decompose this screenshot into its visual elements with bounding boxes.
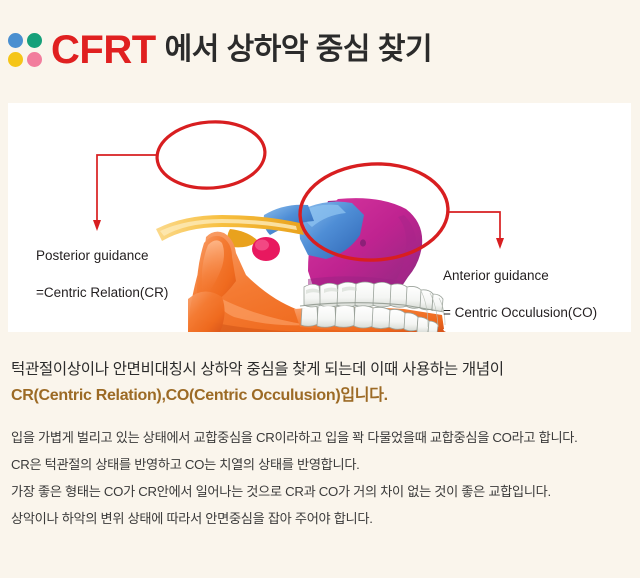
annotation-label-anterior-line2: = Centric Occulusion(CO) xyxy=(443,304,597,322)
paragraph-line-4: 상악이나 하악의 변위 상태에 따라서 안면중심을 잡아 주어야 합니다. xyxy=(11,506,631,533)
annotation-label-posterior: Posterior guidance =Centric Relation(CR) xyxy=(36,229,168,320)
leader-line-anterior xyxy=(448,212,500,239)
leader-line-posterior xyxy=(97,155,157,221)
mandible-front-fragment xyxy=(188,291,225,332)
brand-name: CFRT xyxy=(51,30,156,70)
logo-dot-blue-icon xyxy=(8,33,23,48)
annotation-label-posterior-line1: Posterior guidance xyxy=(36,247,168,265)
page-title: 에서 상하악 중심 찾기 xyxy=(165,35,432,65)
logo-dot-green-icon xyxy=(27,33,42,48)
leader-arrow-anterior xyxy=(496,238,504,249)
paragraph-line-2: CR은 턱관절의 상태를 반영하고 CO는 치열의 상태를 반영합니다. xyxy=(11,452,631,479)
annotation-label-posterior-line2: =Centric Relation(CR) xyxy=(36,284,168,302)
annotation-label-anterior-line1: Anterior guidance xyxy=(443,267,597,285)
logo-dot-pink-icon xyxy=(27,52,42,67)
annotation-ellipse-posterior xyxy=(155,118,267,191)
logo-dot-yellow-icon xyxy=(8,52,23,67)
page-header: CFRT 에서 상하악 중심 찾기 xyxy=(0,0,640,100)
lead-emphasis-line: CR(Centric Relation),CO(Centric Occulusi… xyxy=(11,384,631,409)
body-text-block: 턱관절이상이나 안면비대칭시 상하악 중심을 찾게 되는데 이때 사용하는 개념… xyxy=(11,358,631,533)
infraorbital-foramen xyxy=(360,239,366,246)
paragraph-line-3: 가장 좋은 형태는 CO가 CR안에서 일어나는 것으로 CR과 CO가 거의 … xyxy=(11,479,631,506)
lead-line: 턱관절이상이나 안면비대칭시 상하악 중심을 찾게 되는데 이때 사용하는 개념… xyxy=(11,358,631,382)
cfrt-logo-dots xyxy=(8,33,42,67)
condyle-highlight xyxy=(255,240,269,251)
paragraph-line-1: 입을 가볍게 벌리고 있는 상태에서 교합중심을 CR이라하고 입을 꽉 다물었… xyxy=(11,425,631,452)
annotation-label-anterior: Anterior guidance = Centric Occulusion(C… xyxy=(443,249,597,340)
